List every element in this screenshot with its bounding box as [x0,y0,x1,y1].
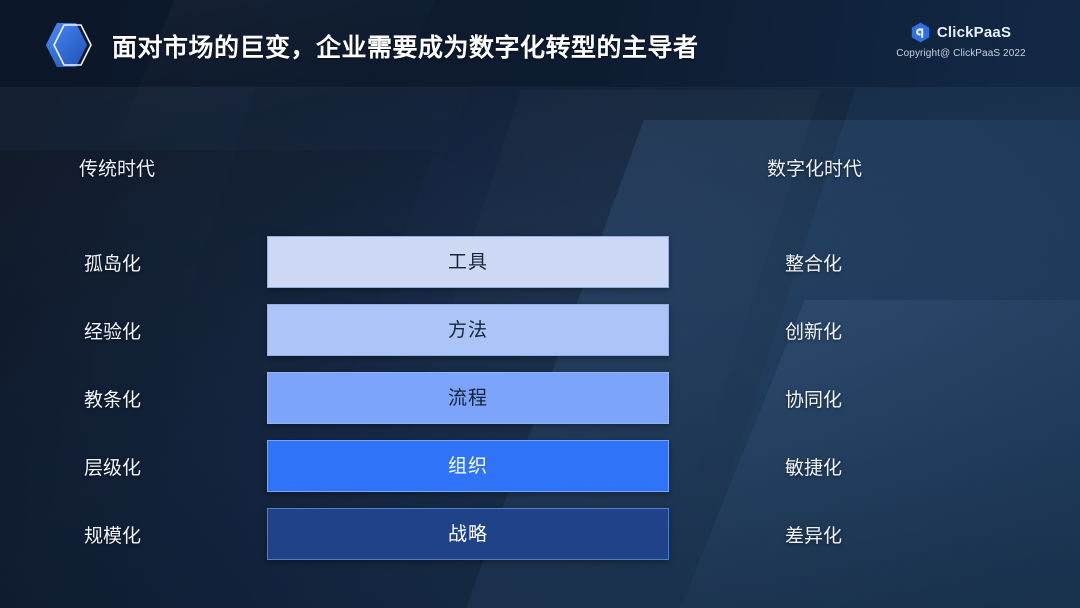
right-column-list: 整合化 创新化 协同化 敏捷化 差异化 [760,228,970,568]
slide-canvas: 面对市场的巨变，企业需要成为数字化转型的主导者 ClickPaaS Copyri… [0,0,1080,608]
bar-row: 战略 [267,500,669,568]
list-item: 协同化 [760,364,970,432]
bar-label: 方法 [448,321,488,340]
bar-process[interactable]: 流程 [267,372,669,424]
bar-label: 工具 [448,253,488,272]
slide-header: 面对市场的巨变，企业需要成为数字化转型的主导者 ClickPaaS Copyri… [0,0,1080,88]
right-column-heading: 数字化时代 [767,154,862,181]
center-bar-stack: 工具 方法 流程 组织 战略 [267,228,669,568]
list-item: 敏捷化 [760,432,970,500]
brand-row: ClickPaaS [876,22,1046,43]
bar-row: 组织 [267,432,669,500]
bar-row: 流程 [267,364,669,432]
left-column-list: 孤岛化 经验化 教条化 层级化 规模化 [60,228,270,568]
list-item: 经验化 [60,296,270,364]
list-item: 整合化 [760,228,970,296]
list-item: 教条化 [60,364,270,432]
comparison-board: 传统时代 数字化时代 孤岛化 经验化 教条化 层级化 规模化 工具 方法 [0,88,1080,608]
bar-row: 方法 [267,296,669,364]
left-column-heading: 传统时代 [79,154,155,181]
list-item: 层级化 [60,432,270,500]
page-title: 面对市场的巨变，企业需要成为数字化转型的主导者 [112,28,699,64]
bar-row: 工具 [267,228,669,296]
brand-copyright: Copyright@ ClickPaaS 2022 [876,48,1046,59]
clickpaas-hexagon-icon [911,22,930,43]
bar-method[interactable]: 方法 [267,304,669,356]
brand-name: ClickPaaS [937,24,1011,41]
brand-block: ClickPaaS Copyright@ ClickPaaS 2022 [876,22,1046,59]
bar-label: 组织 [448,457,488,476]
list-item: 差异化 [760,500,970,568]
bar-tool[interactable]: 工具 [267,236,669,288]
bar-label: 战略 [448,525,488,544]
bar-strategy[interactable]: 战略 [267,508,669,560]
hexagon-logo-icon [44,20,98,70]
bar-organization[interactable]: 组织 [267,440,669,492]
bar-label: 流程 [448,389,488,408]
list-item: 孤岛化 [60,228,270,296]
list-item: 创新化 [760,296,970,364]
list-item: 规模化 [60,500,270,568]
